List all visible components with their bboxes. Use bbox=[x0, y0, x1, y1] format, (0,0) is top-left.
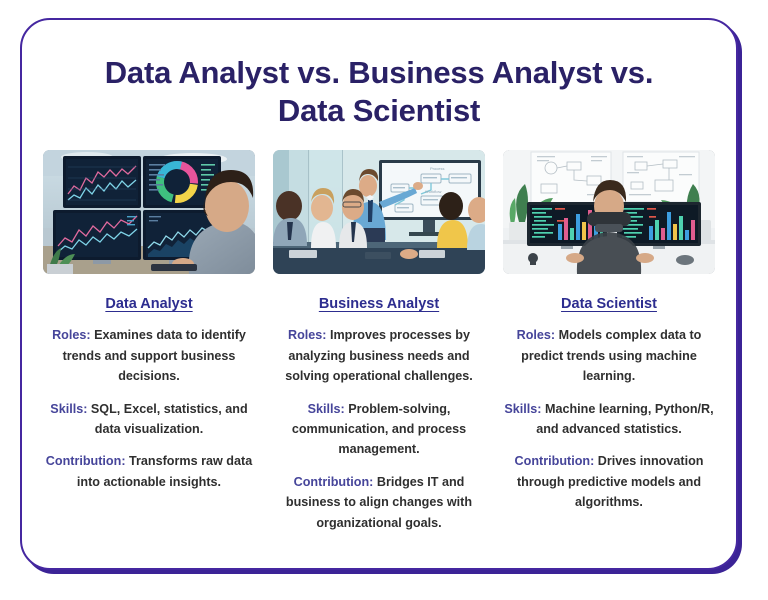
svg-text:Workflow: Workflow bbox=[425, 189, 441, 194]
fact-label-contribution: Contribution: bbox=[515, 454, 595, 468]
fact-skills: Skills: SQL, Excel, statistics, and data… bbox=[43, 399, 255, 440]
fact-skills: Skills: Problem-solving, communication, … bbox=[273, 399, 485, 460]
page-title: Data Analyst vs. Business Analyst vs. Da… bbox=[22, 20, 736, 130]
data-scientist-dual-monitor-code-photo bbox=[503, 150, 715, 274]
fact-label-roles: Roles: bbox=[517, 328, 556, 342]
fact-contribution: Contribution: Drives innovation through … bbox=[503, 451, 715, 512]
svg-text:Process: Process bbox=[430, 166, 444, 171]
role-heading-data-scientist: Data Scientist bbox=[561, 295, 657, 314]
fact-label-contribution: Contribution: bbox=[46, 454, 126, 468]
fact-label-roles: Roles: bbox=[52, 328, 91, 342]
fact-text-skills: SQL, Excel, statistics, and data visuali… bbox=[91, 402, 248, 436]
fact-skills: Skills: Machine learning, Python/R, and … bbox=[503, 399, 715, 440]
column-data-analyst: Data Analyst Roles: Examines data to ide… bbox=[43, 150, 255, 493]
column-data-scientist: Data Scientist Roles: Models complex dat… bbox=[503, 150, 715, 513]
fact-label-roles: Roles: bbox=[288, 328, 327, 342]
fact-label-skills: Skills: bbox=[504, 402, 541, 416]
fact-roles: Roles: Improves processes by analyzing b… bbox=[273, 325, 485, 386]
comparison-columns: Data Analyst Roles: Examines data to ide… bbox=[22, 130, 736, 533]
fact-label-contribution: Contribution: bbox=[294, 475, 374, 489]
fact-label-skills: Skills: bbox=[50, 402, 87, 416]
fact-text-skills: Machine learning, Python/R, and advanced… bbox=[536, 402, 713, 436]
fact-contribution: Contribution: Bridges IT and business to… bbox=[273, 472, 485, 533]
role-heading-data-analyst: Data Analyst bbox=[105, 295, 192, 314]
fact-roles: Roles: Examines data to identify trends … bbox=[43, 325, 255, 386]
fact-label-skills: Skills: bbox=[308, 402, 345, 416]
fact-contribution: Contribution: Transforms raw data into a… bbox=[43, 451, 255, 492]
business-meeting-presentation-photo: Process Workflow bbox=[273, 150, 485, 274]
role-heading-business-analyst: Business Analyst bbox=[319, 295, 439, 314]
column-business-analyst: Process Workflow bbox=[273, 150, 485, 533]
infographic-card: Data Analyst vs. Business Analyst vs. Da… bbox=[20, 18, 738, 570]
fact-text-roles: Examines data to identify trends and sup… bbox=[63, 328, 246, 383]
analyst-multi-monitor-charts-photo bbox=[43, 150, 255, 274]
fact-roles: Roles: Models complex data to predict tr… bbox=[503, 325, 715, 386]
